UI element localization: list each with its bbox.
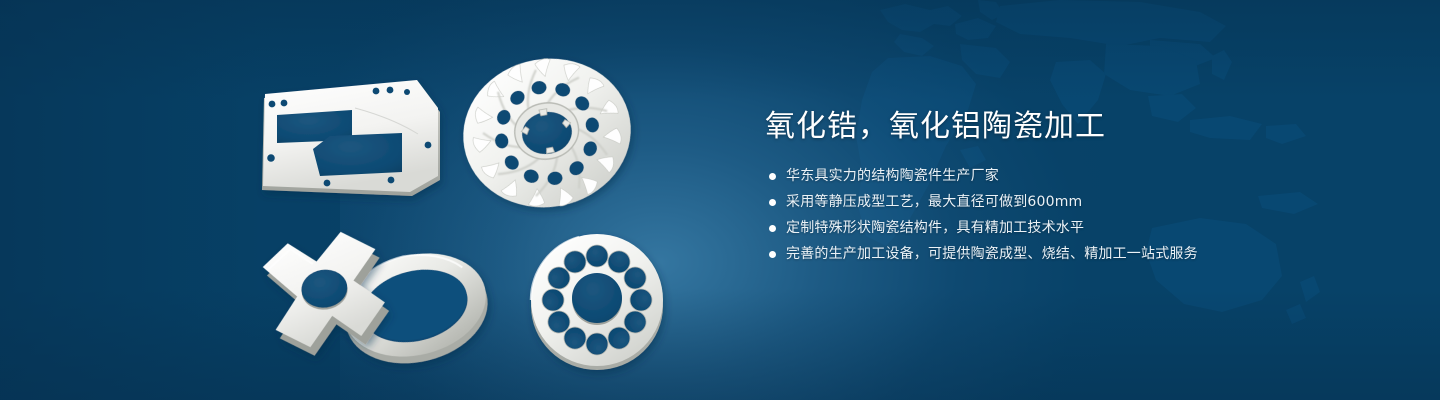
feature-item-1: 华东具实力的结构陶瓷件生产厂家 bbox=[765, 168, 1405, 184]
feature-item-2: 采用等静压成型工艺，最大直径可做到600mm bbox=[765, 194, 1405, 210]
feature-label: 定制特殊形状陶瓷结构件，具有精加工技术水平 bbox=[786, 220, 1084, 236]
product-photo-group bbox=[0, 0, 740, 400]
feature-label: 华东具实力的结构陶瓷件生产厂家 bbox=[786, 168, 999, 184]
hero-banner: 氧化锆，氧化铝陶瓷加工 华东具实力的结构陶瓷件生产厂家 采用等静压成型工艺，最大… bbox=[0, 0, 1440, 400]
feature-label: 完善的生产加工设备，可提供陶瓷成型、烧结、精加工一站式服务 bbox=[786, 246, 1198, 262]
bullet-dot-icon bbox=[769, 173, 776, 180]
feature-list: 华东具实力的结构陶瓷件生产厂家 采用等静压成型工艺，最大直径可做到600mm 定… bbox=[765, 168, 1405, 262]
product-perforated-ring-plate bbox=[531, 234, 663, 370]
banner-headline: 氧化锆，氧化铝陶瓷加工 bbox=[765, 108, 1405, 146]
product-rectangular-plate bbox=[262, 80, 440, 196]
banner-copy: 氧化锆，氧化铝陶瓷加工 华东具实力的结构陶瓷件生产厂家 采用等静压成型工艺，最大… bbox=[765, 108, 1405, 272]
feature-label: 采用等静压成型工艺，最大直径可做到600mm bbox=[786, 194, 1082, 210]
product-impeller-disc bbox=[451, 46, 642, 222]
bullet-dot-icon bbox=[769, 225, 776, 232]
feature-item-4: 完善的生产加工设备，可提供陶瓷成型、烧结、精加工一站式服务 bbox=[765, 246, 1405, 262]
feature-item-3: 定制特殊形状陶瓷结构件，具有精加工技术水平 bbox=[765, 220, 1405, 236]
bullet-dot-icon bbox=[769, 199, 776, 206]
bullet-dot-icon bbox=[769, 251, 776, 258]
